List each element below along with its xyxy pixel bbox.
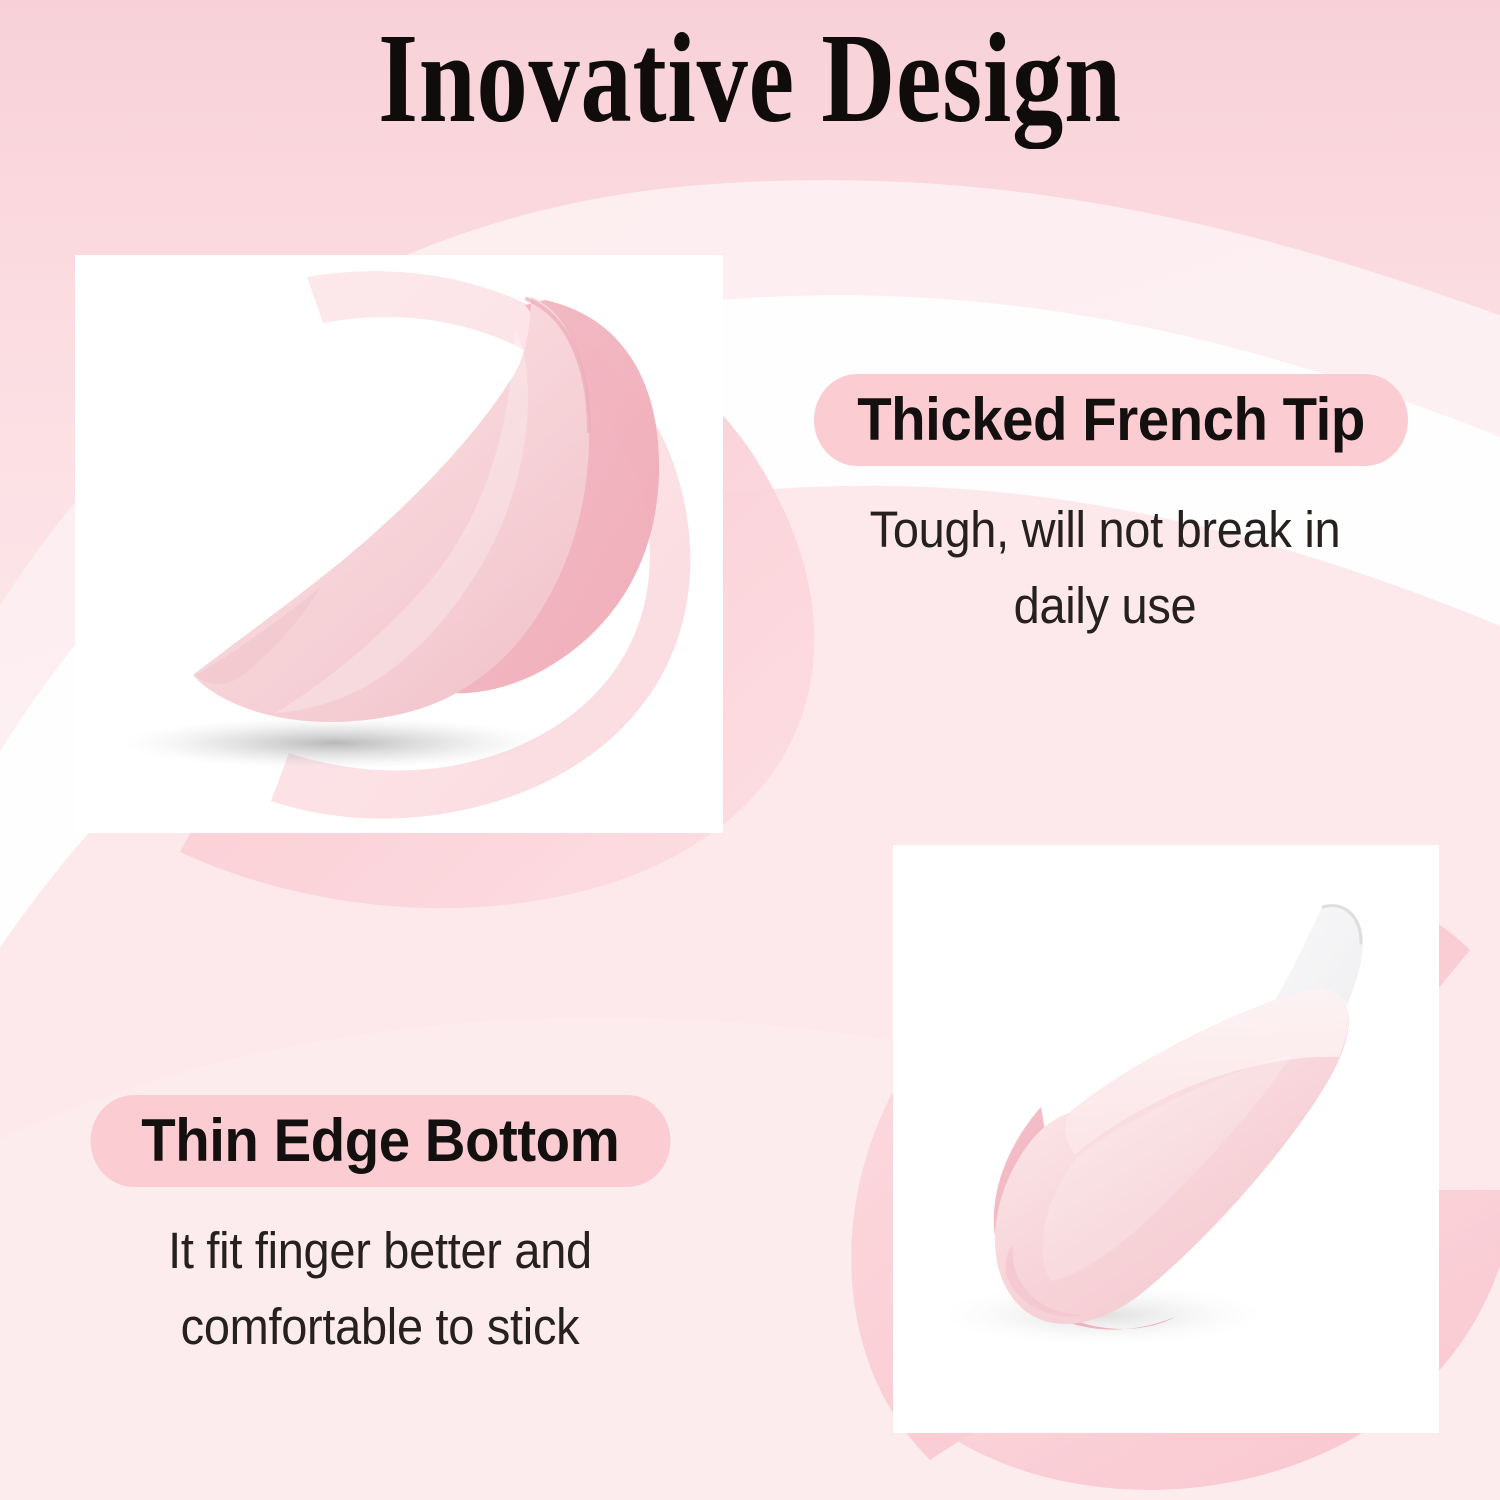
- infographic-canvas: Inovative Design: [0, 0, 1500, 1500]
- feature-description-line-2: comfortable to stick: [95, 1289, 665, 1365]
- feature-description-line-1: It fit finger better and: [95, 1213, 665, 1289]
- feature-pill-thicked-french-tip: Thicked French Tip: [814, 374, 1408, 466]
- feature-callout-french-tip: Thicked French Tip Tough, will not break…: [795, 374, 1415, 644]
- feature-callout-thin-edge: Thin Edge Bottom It fit finger better an…: [70, 1095, 690, 1365]
- page-title: Inovative Design: [150, 14, 1350, 142]
- product-photo-card-thin-edge: [893, 845, 1439, 1433]
- feature-description-french-tip: Tough, will not break in daily use: [820, 492, 1390, 644]
- feature-pill-thin-edge-bottom: Thin Edge Bottom: [90, 1095, 670, 1187]
- feature-description-thin-edge: It fit finger better and comfortable to …: [95, 1213, 665, 1365]
- feature-description-line-1: Tough, will not break in: [820, 492, 1390, 568]
- feature-description-line-2: daily use: [820, 568, 1390, 644]
- product-photo-card-french-tip: [75, 255, 723, 833]
